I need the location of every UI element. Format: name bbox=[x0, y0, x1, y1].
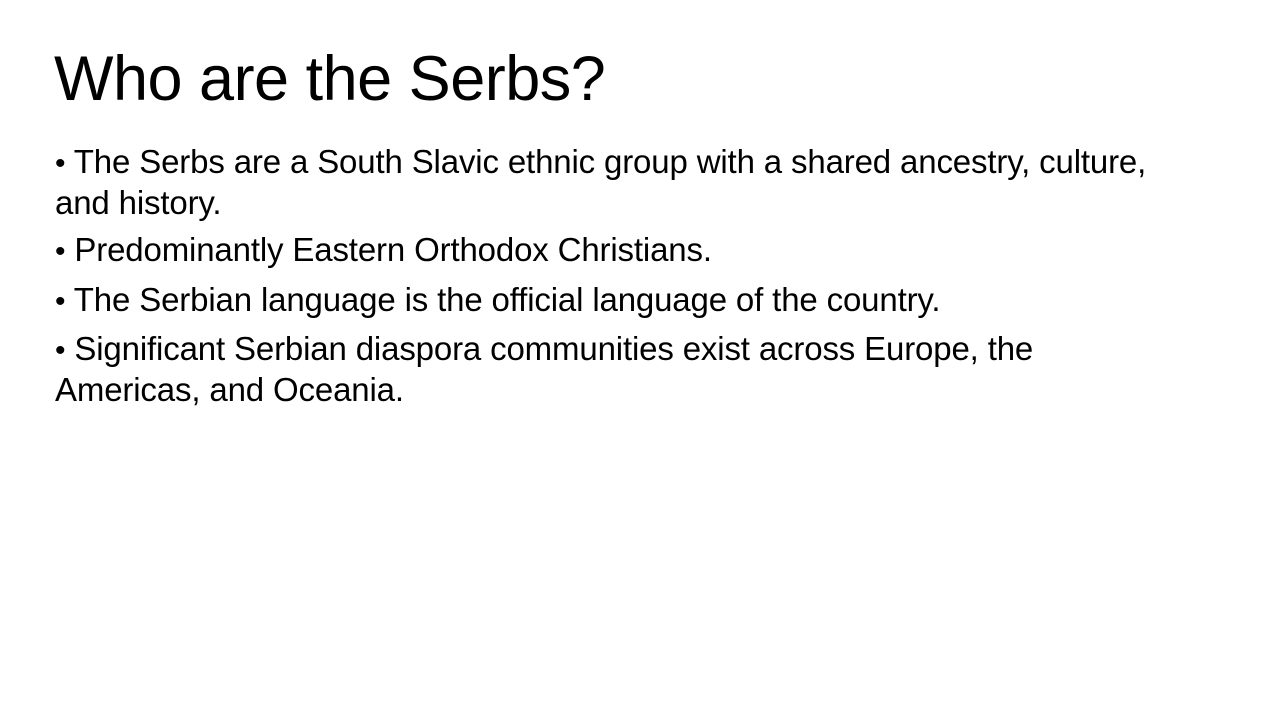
list-item-text: Significant Serbian diaspora communities… bbox=[55, 330, 1033, 408]
bullet-point-icon: • bbox=[55, 334, 65, 367]
page-title: Who are the Serbs? bbox=[54, 46, 1224, 113]
list-item-text: The Serbs are a South Slavic ethnic grou… bbox=[55, 143, 1146, 221]
bullet-list: • The Serbs are a South Slavic ethnic gr… bbox=[55, 143, 1185, 409]
bullet-point-icon: • bbox=[55, 285, 65, 318]
list-item: • The Serbian language is the official l… bbox=[55, 281, 1185, 322]
list-item-text: The Serbian language is the official lan… bbox=[74, 281, 941, 318]
bullet-point-icon: • bbox=[55, 235, 65, 268]
list-item: • Predominantly Eastern Orthodox Christi… bbox=[55, 231, 1185, 272]
list-item-text: Predominantly Eastern Orthodox Christian… bbox=[74, 231, 712, 268]
list-item: • Significant Serbian diaspora communiti… bbox=[55, 330, 1185, 409]
slide-canvas: Who are the Serbs? • The Serbs are a Sou… bbox=[0, 0, 1280, 720]
list-item: • The Serbs are a South Slavic ethnic gr… bbox=[55, 143, 1185, 222]
bullet-point-icon: • bbox=[55, 147, 65, 180]
